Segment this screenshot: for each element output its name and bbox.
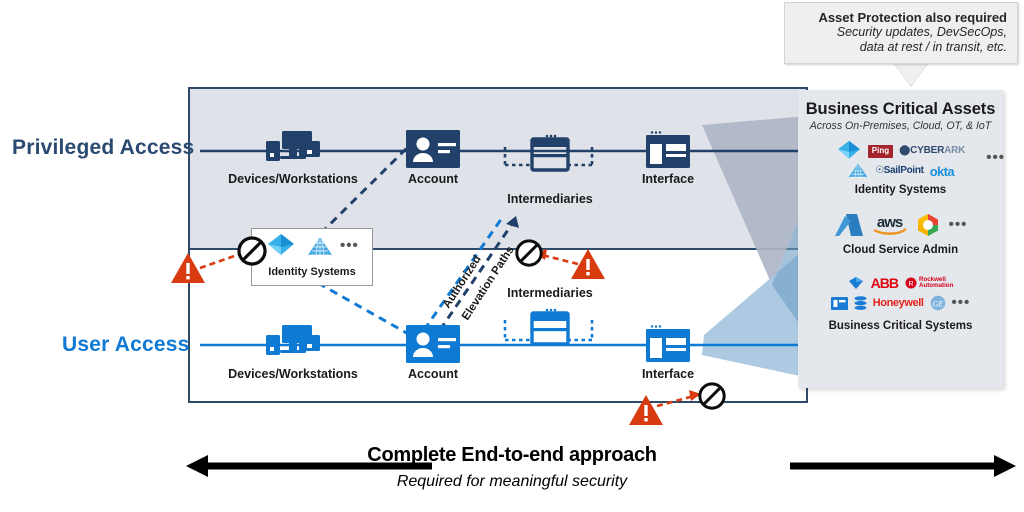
asset-group-label-cloud: Cloud Service Admin bbox=[798, 244, 1003, 256]
honeywell-logo: Honeywell bbox=[873, 298, 924, 309]
asset-group-identity: Ping ⬤CYBERARK ••• ☉SailPoint okta Ident… bbox=[798, 140, 1003, 196]
account-icon-privileged bbox=[406, 130, 460, 168]
warning-icon-bottom bbox=[628, 394, 664, 426]
callout-line1: Security updates, DevSecOps, bbox=[795, 25, 1007, 40]
azure-ad-diamond-icon bbox=[266, 233, 296, 259]
caption-title: Complete End-to-end approach bbox=[0, 444, 1024, 467]
label-account-user: Account bbox=[383, 367, 483, 381]
callout-line2: data at rest / in transit, etc. bbox=[795, 40, 1007, 55]
callout-tail bbox=[894, 63, 928, 86]
azure-logo bbox=[834, 212, 864, 238]
identity-more-dots: ••• bbox=[986, 154, 1005, 162]
intermediaries-icon-user bbox=[530, 307, 570, 347]
label-account-privileged: Account bbox=[383, 172, 483, 186]
cloud-more-dots: ••• bbox=[949, 221, 968, 229]
svg-text:R: R bbox=[908, 281, 913, 288]
interface-icon-privileged bbox=[645, 131, 691, 169]
lane-label-user: User Access bbox=[62, 333, 190, 357]
lane-label-privileged: Privileged Access bbox=[12, 136, 194, 160]
label-interface-user: Interface bbox=[618, 367, 718, 381]
gem-icon bbox=[848, 276, 864, 290]
blocked-icon-middle bbox=[514, 238, 544, 268]
business-critical-assets-panel: Business Critical Assets Across On-Premi… bbox=[798, 90, 1003, 388]
sap-icon bbox=[831, 297, 848, 310]
interface-icon-user bbox=[645, 325, 691, 363]
sailpoint-logo: ☉SailPoint bbox=[875, 166, 924, 176]
account-icon-user bbox=[406, 325, 460, 363]
identity-systems-inset-label: Identity Systems bbox=[252, 266, 372, 278]
asset-group-label-bcs: Business Critical Systems bbox=[798, 320, 1003, 332]
caption-subtitle: Required for meaningful security bbox=[0, 473, 1024, 491]
blocked-icon-left bbox=[236, 235, 268, 267]
label-interface-privileged: Interface bbox=[618, 172, 718, 186]
asset-panel-title: Business Critical Assets bbox=[798, 100, 1003, 119]
cyberark-logo: ⬤CYBERARK bbox=[899, 146, 965, 156]
asset-panel-subtitle: Across On-Premises, Cloud, OT, & IoT bbox=[798, 120, 1003, 132]
azure-ad-diamond-icon-panel bbox=[836, 140, 862, 162]
callout-title: Asset Protection also required bbox=[795, 10, 1007, 25]
google-cloud-logo bbox=[916, 213, 940, 237]
abb-logo: ABB bbox=[871, 276, 898, 290]
intermediaries-icon-privileged bbox=[530, 133, 570, 173]
asset-protection-callout: Asset Protection also required Security … bbox=[784, 2, 1018, 64]
warning-icon-middle bbox=[570, 248, 606, 280]
aws-logo: aws bbox=[873, 215, 907, 235]
label-intermediaries-user: Intermediaries bbox=[490, 286, 610, 300]
azure-pyramid-icon-panel bbox=[847, 162, 869, 180]
aws-swoosh-icon bbox=[873, 228, 907, 235]
rockwell-mark-icon: R bbox=[905, 277, 917, 289]
blocked-icon-bottom bbox=[697, 381, 727, 411]
label-intermediaries-privileged: Intermediaries bbox=[490, 192, 610, 206]
asset-group-label-identity: Identity Systems bbox=[798, 184, 1003, 196]
ping-identity-logo: Ping bbox=[868, 145, 893, 158]
azure-pyramid-icon bbox=[306, 236, 334, 258]
asset-group-cloud: aws ••• Cloud Service Admin bbox=[798, 210, 1003, 256]
label-devices-privileged: Devices/Workstations bbox=[213, 172, 373, 186]
okta-logo: okta bbox=[930, 165, 954, 178]
bcs-more-dots: ••• bbox=[952, 299, 971, 307]
ge-logo: GE bbox=[930, 295, 946, 311]
svg-text:GE: GE bbox=[932, 299, 943, 308]
devices-workstations-icon-privileged bbox=[264, 129, 322, 171]
diagram-canvas: Privileged Access User Access Devices/Wo… bbox=[0, 0, 1024, 512]
rockwell-logo: R RockwellAutomation bbox=[905, 277, 953, 289]
asset-group-bcs: ABB R RockwellAutomation bbox=[798, 272, 1003, 332]
stack-icon bbox=[854, 296, 867, 311]
label-devices-user: Devices/Workstations bbox=[213, 367, 373, 381]
warning-icon-left bbox=[170, 252, 206, 284]
devices-workstations-icon-user bbox=[264, 323, 322, 365]
identity-inset-more-dots: ••• bbox=[340, 242, 359, 250]
